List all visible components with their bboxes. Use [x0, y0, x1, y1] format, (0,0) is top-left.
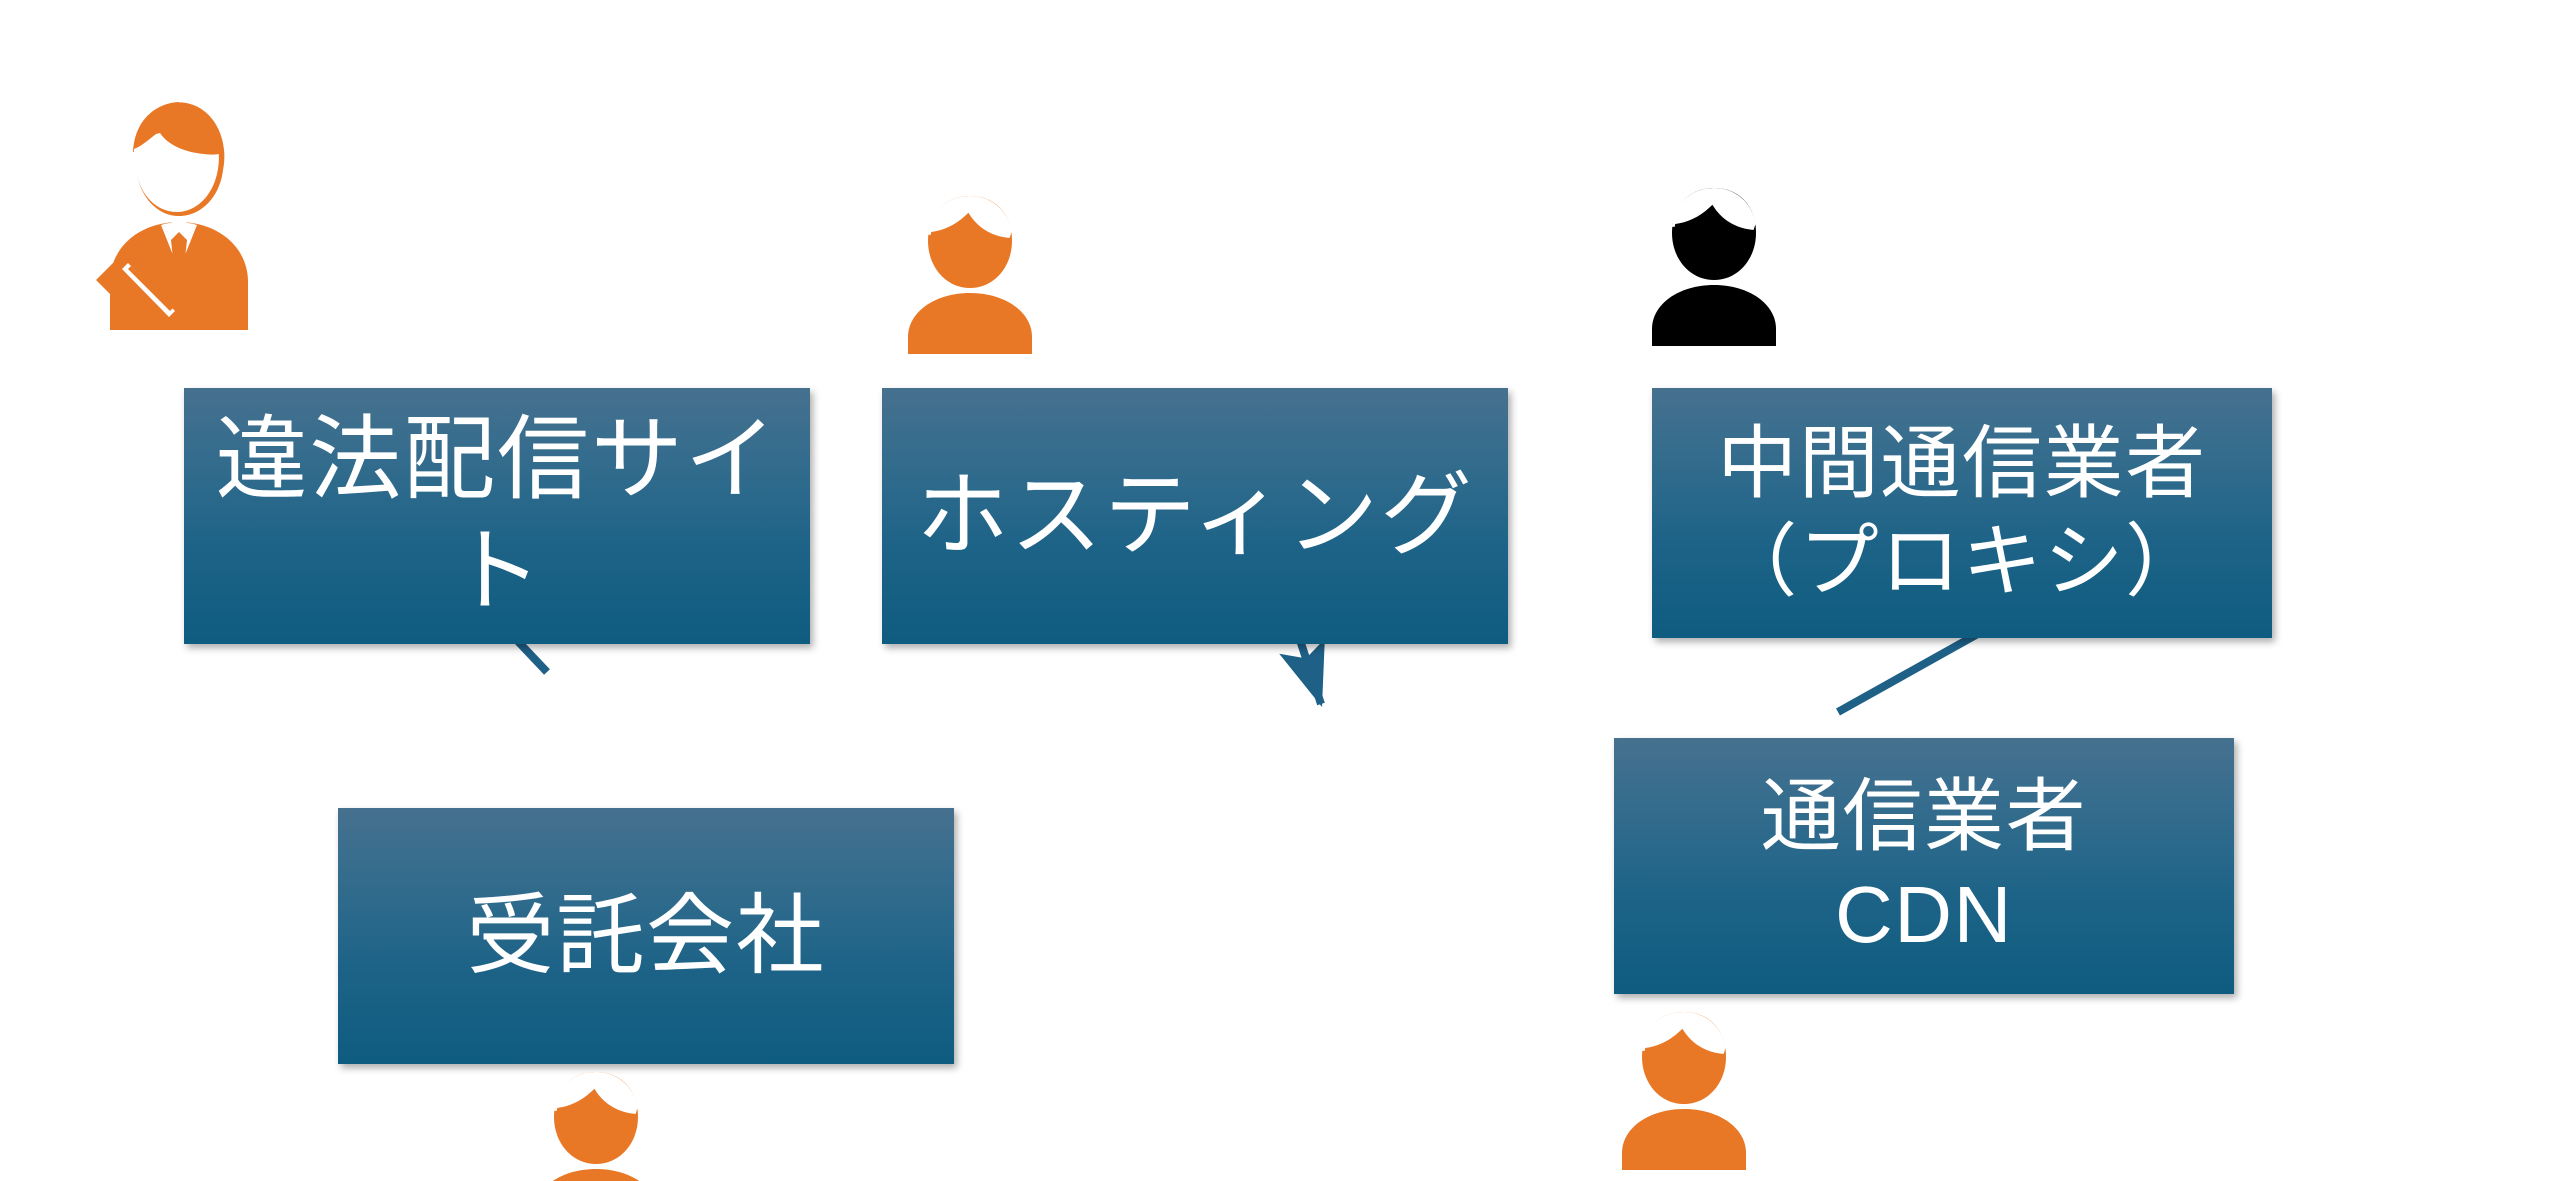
- node-label: 中間通信業者 （プロキシ）: [1707, 415, 2217, 610]
- node-carrier-cdn[interactable]: 通信業者 CDN: [1614, 738, 2234, 994]
- node-intermediate-carrier-proxy[interactable]: 中間通信業者 （プロキシ）: [1652, 388, 2272, 638]
- person-icon: [1604, 1008, 1684, 1091]
- node-label: 受託会社: [456, 882, 835, 989]
- person-icon: [1634, 184, 1714, 267]
- node-illegal-streaming-site[interactable]: 違法配信サイト: [184, 388, 810, 644]
- diagram-canvas: 違法配信サイト ホスティング 中間通信業者 （プロキシ） 受託会社 通信業者 C…: [0, 0, 2560, 1181]
- node-label: ホスティング: [906, 460, 1484, 572]
- node-label: 違法配信サイト: [184, 404, 810, 628]
- node-label: 通信業者 CDN: [1751, 768, 2097, 963]
- judge-gavel-person-icon: [84, 90, 206, 215]
- node-contractor-company[interactable]: 受託会社: [338, 808, 954, 1064]
- person-icon: [516, 1068, 596, 1151]
- person-icon: [890, 192, 970, 275]
- node-hosting[interactable]: ホスティング: [882, 388, 1508, 644]
